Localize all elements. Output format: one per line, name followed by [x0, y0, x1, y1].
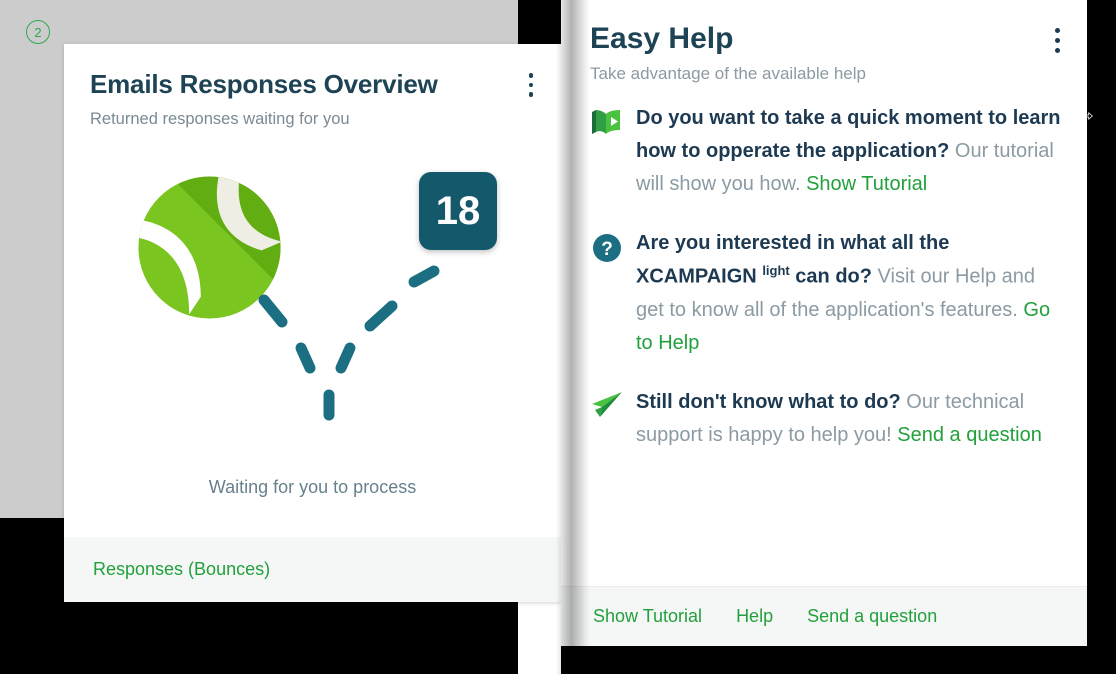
send-a-question-link[interactable]: Send a question	[897, 424, 1042, 446]
help-item-question: Still don't know what to do?	[636, 391, 901, 413]
page-background-black-bottom	[0, 518, 64, 674]
kebab-dot	[1055, 38, 1060, 43]
more-vertical-icon[interactable]	[1045, 24, 1069, 56]
footer-link-send-a-question[interactable]: Send a question	[807, 606, 937, 627]
help-item-tutorial: Do you want to take a quick moment to le…	[590, 102, 1065, 201]
help-item-text: Do you want to take a quick moment to le…	[636, 102, 1065, 201]
bounce-trail-icon	[244, 260, 544, 440]
kebab-dot	[1055, 48, 1060, 53]
svg-text:?: ?	[601, 239, 613, 260]
responses-bounces-link[interactable]: Responses (Bounces)	[93, 559, 270, 580]
show-tutorial-link[interactable]: Show Tutorial	[806, 173, 927, 195]
help-item-help: ? Are you interested in what all the XCA…	[590, 227, 1065, 360]
footer-link-help[interactable]: Help	[736, 606, 773, 627]
panel-header: Easy Help Take advantage of the availabl…	[561, 0, 1087, 84]
count-badge: 18	[419, 172, 497, 250]
panel-subtitle: Take advantage of the available help	[590, 64, 1061, 84]
card-subtitle: Returned responses waiting for you	[90, 110, 535, 130]
help-item-support: Still don't know what to do? Our technic…	[590, 386, 1065, 452]
annotation-marker-2: 2	[26, 20, 50, 44]
card-caption: Waiting for you to process	[64, 477, 561, 498]
kebab-dot	[529, 92, 534, 97]
kebab-dot	[1055, 28, 1060, 33]
help-item-text: Are you interested in what all the XCAMP…	[636, 227, 1065, 360]
paper-plane-icon	[590, 390, 624, 424]
kebab-dot	[529, 73, 534, 78]
panel-title: Easy Help	[590, 22, 1061, 55]
card-footer: Responses (Bounces)	[64, 537, 561, 602]
easy-help-panel: Easy Help Take advantage of the availabl…	[561, 0, 1087, 646]
help-items-list: Do you want to take a quick moment to le…	[561, 102, 1087, 452]
panel-footer: Show Tutorial Help Send a question	[561, 586, 1087, 646]
help-item-text: Still don't know what to do? Our technic…	[636, 386, 1065, 452]
question-mark-circle-icon: ?	[590, 231, 624, 265]
kebab-dot	[529, 83, 534, 88]
footer-link-show-tutorial[interactable]: Show Tutorial	[593, 606, 702, 627]
more-vertical-icon[interactable]	[519, 70, 543, 100]
help-item-question-post: can do?	[790, 266, 872, 288]
annotation-marker-2-label: 2	[26, 20, 50, 44]
card-header: Emails Responses Overview Returned respo…	[64, 44, 561, 130]
help-item-question-superscript: light	[762, 263, 789, 278]
card-illustration: 18	[64, 160, 561, 440]
page-title: Emails Responses Overview	[90, 70, 535, 100]
book-play-icon	[590, 106, 624, 140]
